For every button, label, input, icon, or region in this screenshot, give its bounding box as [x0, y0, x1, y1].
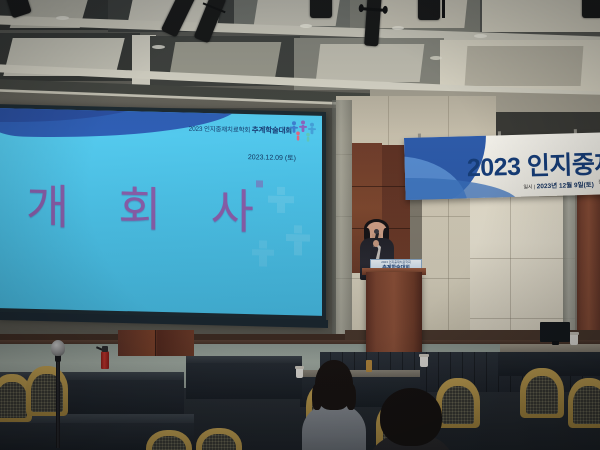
- decorative-figure: [268, 187, 294, 214]
- confidence-monitor: [540, 322, 570, 342]
- microphone-head: [374, 229, 379, 234]
- center-table-skirt: [186, 363, 302, 399]
- screen-main-title: 개 회 사: [26, 181, 272, 239]
- fire-extinguisher: [101, 351, 109, 369]
- banner-date-label: 일시: [523, 184, 532, 190]
- coffee-cup: [570, 334, 578, 345]
- drink-bottle: [366, 360, 372, 372]
- projection-screen: 2023 인지중재치료학회 추계학술대회 2023.12.09 (토): [0, 108, 322, 316]
- audience-member: [372, 388, 450, 450]
- stage-spotlight: [418, 0, 440, 20]
- extinguisher-valve: [102, 346, 108, 352]
- decorative-figure: [252, 240, 274, 267]
- speaker-hand: [373, 240, 379, 247]
- wood-panel-seam: [352, 186, 410, 187]
- event-banner: 2023 인지중재치 일시 | 2023년 12월 9일(토) 장소 | 백범김…: [404, 132, 600, 200]
- coffee-cup-lid: [419, 354, 429, 357]
- decorative-square: [256, 180, 263, 187]
- door-seam: [155, 330, 156, 356]
- people-figures-logo: [288, 119, 318, 142]
- decorative-figure: [286, 225, 310, 256]
- screen-header-org: 2023 인지중재치료학회: [189, 126, 251, 135]
- microphone-head-foreground: [51, 340, 65, 356]
- banquet-chair[interactable]: [146, 430, 192, 450]
- banner-date-line: 일시 | 2023년 12월 9일(토): [523, 179, 594, 191]
- screenshot-root: 2023 인지중재치료학회 추계학술대회 2023.12.09 (토): [0, 0, 600, 450]
- ceiling: [0, 0, 600, 112]
- glass-pillar: [332, 100, 352, 350]
- banquet-chair[interactable]: [520, 368, 564, 418]
- projection-screen-frame: 2023 인지중재치료학회 추계학술대회 2023.12.09 (토): [0, 104, 326, 324]
- screen-date: 2023.12.09 (토): [248, 152, 296, 163]
- audience-member: [302, 360, 366, 450]
- coffee-cup: [420, 356, 428, 367]
- banquet-chair[interactable]: [568, 378, 600, 428]
- screen-header: 2023 인지중재치료학회 추계학술대회: [189, 123, 292, 137]
- coffee-cup-lid: [569, 332, 579, 335]
- banquet-chair[interactable]: [196, 428, 242, 450]
- podium: [366, 272, 422, 358]
- monitor-stand: [552, 341, 559, 345]
- wooden-door[interactable]: [118, 330, 194, 356]
- microphone-stand: [56, 348, 60, 448]
- banquet-chair[interactable]: [26, 366, 68, 416]
- screen-header-event: 추계학술대회: [252, 125, 292, 135]
- stage-spotlight: [582, 0, 600, 18]
- stage-spotlight: [310, 0, 332, 18]
- banner-date-value: 2023년 12월 9일(토): [537, 182, 594, 191]
